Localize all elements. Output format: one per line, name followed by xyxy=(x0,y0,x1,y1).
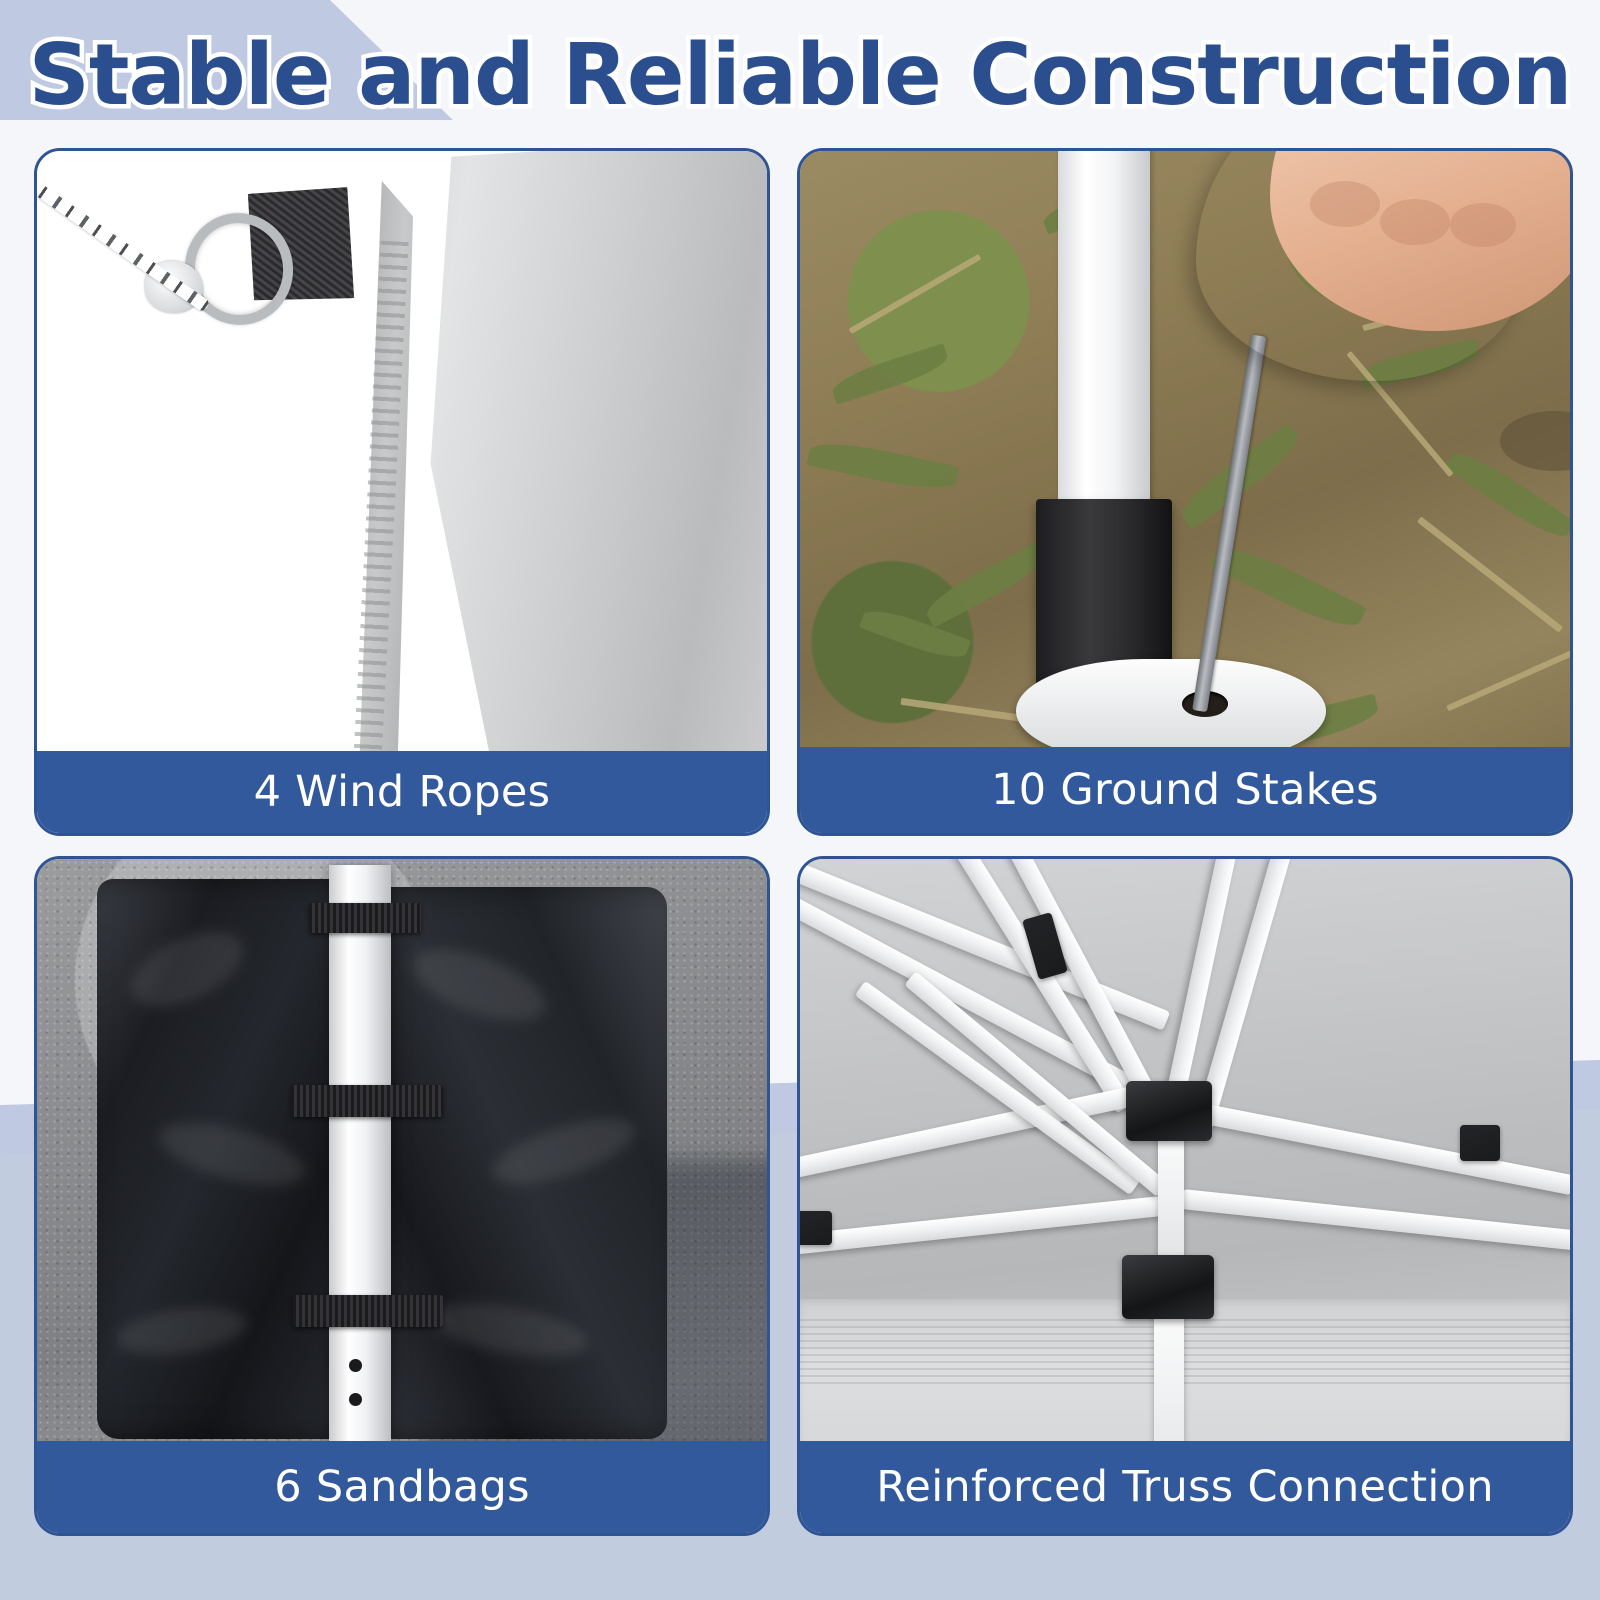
bag-wrinkle xyxy=(153,1110,311,1197)
truss-hub-upper xyxy=(1126,1081,1212,1141)
sidewall-stitch-lines xyxy=(800,1319,1570,1389)
pole-pin-hole xyxy=(349,1359,362,1372)
infographic-stage: Stable and Reliable Construction 4 Wind … xyxy=(0,0,1600,1600)
feature-card-sandbags[interactable]: 6 Sandbags xyxy=(34,856,770,1536)
grass-blade xyxy=(921,542,1049,628)
ground-scene xyxy=(800,151,1570,833)
knuckle xyxy=(1380,199,1450,245)
canopy-leg-pole xyxy=(329,865,391,1465)
rope-scene xyxy=(37,151,767,833)
knuckle xyxy=(1450,203,1516,247)
truss-lower-beam-right xyxy=(1181,1189,1570,1251)
grass-blade xyxy=(829,343,951,405)
pole-pin-hole xyxy=(349,1393,362,1406)
page-title: Stable and Reliable Construction xyxy=(0,26,1600,125)
card-caption-truss-connection: Reinforced Truss Connection xyxy=(800,1441,1570,1533)
feature-card-truss-connection[interactable]: Reinforced Truss Connection xyxy=(797,856,1573,1536)
soil-patch xyxy=(1500,411,1570,471)
card-caption-sandbags: 6 Sandbags xyxy=(37,1441,767,1533)
knuckle xyxy=(1310,181,1380,227)
canopy-interior-scene xyxy=(800,859,1570,1533)
concrete-scene xyxy=(37,859,767,1533)
grass-blade xyxy=(807,436,960,497)
photo-ground-stake-install xyxy=(800,151,1570,833)
photo-sandbag-on-leg xyxy=(37,859,767,1533)
truss-lower-beam-left xyxy=(800,1194,1179,1255)
bag-wrinkle xyxy=(404,935,555,1036)
truss-hub-lower xyxy=(1122,1255,1214,1319)
dry-straw xyxy=(849,254,982,334)
bag-wrinkle xyxy=(426,1293,592,1366)
bag-wrinkle xyxy=(485,1105,642,1197)
sandbag-right-half xyxy=(369,887,667,1439)
feature-card-wind-ropes[interactable]: 4 Wind Ropes xyxy=(34,148,770,836)
bag-strap-middle xyxy=(291,1085,443,1117)
guy-rope-line xyxy=(37,151,211,313)
bag-strap-top xyxy=(309,903,421,933)
metal-ground-stake xyxy=(1192,335,1266,713)
canopy-leg-pole xyxy=(1058,151,1150,547)
bag-strap-bottom xyxy=(293,1295,443,1327)
bag-wrinkle xyxy=(115,1300,250,1362)
feature-card-ground-stakes[interactable]: 10 Ground Stakes xyxy=(797,148,1573,836)
bag-wrinkle xyxy=(120,916,254,1021)
grass-blade xyxy=(1209,538,1367,637)
dry-straw xyxy=(1417,516,1563,632)
photo-truss-connection xyxy=(800,859,1570,1533)
card-caption-wind-ropes: 4 Wind Ropes xyxy=(37,751,767,833)
photo-wind-rope-attachment xyxy=(37,151,767,833)
dry-straw xyxy=(1446,637,1570,712)
truss-eave-beam-right xyxy=(1178,1099,1570,1195)
card-caption-ground-stakes: 10 Ground Stakes xyxy=(800,747,1570,833)
truss-clip-right xyxy=(1460,1125,1500,1161)
truss-clip-left xyxy=(800,1211,832,1245)
